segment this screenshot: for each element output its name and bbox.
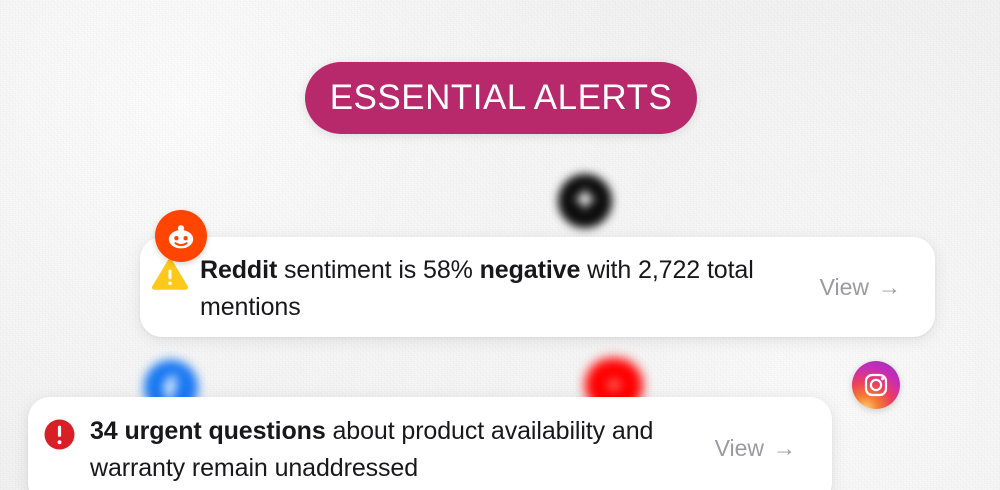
- instagram-icon: [852, 361, 900, 409]
- view-link[interactable]: View →: [711, 397, 832, 490]
- alert-text-part: sentiment is 58%: [277, 256, 479, 284]
- page-title-badge: ESSENTIAL ALERTS: [305, 62, 697, 134]
- alert-message: Reddit sentiment is 58% negative with 2,…: [200, 237, 816, 326]
- alert-card-inner: Reddit sentiment is 58% negative with 2,…: [140, 237, 935, 337]
- alert-severity-icon-slot: [28, 397, 90, 451]
- page-title: ESSENTIAL ALERTS: [330, 78, 673, 118]
- view-link-label: View: [820, 274, 869, 301]
- alert-text-part: Reddit: [200, 256, 277, 284]
- alert-text-part: 34 urgent questions: [90, 417, 326, 445]
- reddit-icon: [155, 210, 207, 262]
- tiktok-icon: ✦: [558, 174, 612, 228]
- view-link[interactable]: View →: [816, 237, 935, 337]
- alert-card[interactable]: Reddit sentiment is 58% negative with 2,…: [140, 237, 935, 337]
- alert-card-inner: 34 urgent questions about product availa…: [28, 397, 832, 490]
- error-circle-icon: [43, 418, 76, 451]
- view-link-label: View: [715, 435, 764, 462]
- alert-message: 34 urgent questions about product availa…: [90, 397, 711, 487]
- arrow-right-icon: →: [773, 437, 796, 460]
- arrow-right-icon: →: [878, 276, 901, 299]
- alert-text-part: negative: [480, 256, 581, 284]
- tiktok-glyph: ✦: [572, 186, 597, 216]
- alerts-screen: ESSENTIAL ALERTS ✦: [0, 0, 1000, 490]
- alert-card[interactable]: 34 urgent questions about product availa…: [28, 397, 832, 490]
